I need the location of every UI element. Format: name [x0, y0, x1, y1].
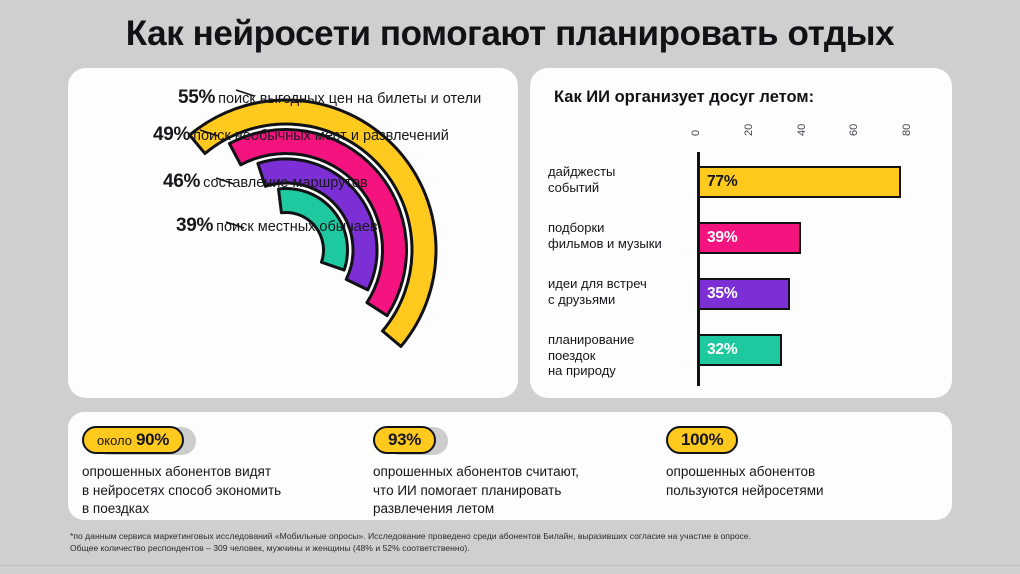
bottom-divider	[0, 565, 1020, 566]
card-travel-uses: 55%поиск выгодных цен на билеты и отели …	[68, 68, 518, 398]
arc-category-1: поиск необычных мест и развлечений	[193, 128, 449, 144]
stat-text-0: опрошенных абонентов видят в нейросетях …	[82, 463, 281, 519]
arc-value-0: 55%	[178, 87, 215, 108]
arc-category-0: поиск выгодных цен на билеты и отели	[218, 91, 481, 107]
bar-1[interactable]: 39%	[698, 222, 801, 254]
stat-item-2: 100%опрошенных абонентов пользуются нейр…	[666, 426, 824, 500]
stat-pill-1: 93%	[373, 426, 436, 454]
arc-value-2: 46%	[163, 171, 200, 192]
bar-category-3: планирование поездок на природу	[548, 332, 686, 379]
infographic-root: Как нейросети помогают планировать отдых…	[0, 0, 1020, 574]
arc-label-2: 46%составление маршрутов	[163, 172, 368, 191]
x-tick-80: 80	[901, 124, 913, 136]
page-title: Как нейросети помогают планировать отдых	[0, 14, 1020, 54]
stat-text-1: опрошенных абонентов считают, что ИИ пом…	[373, 463, 579, 519]
stat-pill-0: около90%	[82, 426, 184, 454]
stat-pill-wrap-2: 100%	[666, 426, 738, 456]
bar-chart: 020406080дайджесты событий77%подборки фи…	[530, 68, 952, 398]
x-tick-40: 40	[796, 124, 808, 136]
arc-category-3: поиск местных обычаев	[216, 219, 377, 235]
stat-item-1: 93%опрошенных абонентов считают, что ИИ …	[373, 426, 579, 519]
x-tick-20: 20	[743, 124, 755, 136]
stat-item-0: около90%опрошенных абонентов видят в ней…	[82, 426, 281, 519]
stat-value-0: 90%	[136, 430, 169, 450]
stat-text-2: опрошенных абонентов пользуются нейросет…	[666, 463, 824, 500]
footnote: *по данным сервиса маркетинговых исследо…	[70, 531, 950, 554]
arc-value-3: 39%	[176, 215, 213, 236]
stat-pill-wrap-0: около90%	[82, 426, 184, 456]
bar-value-1: 39%	[707, 229, 737, 247]
arc-label-3: 39%поиск местных обычаев	[176, 216, 378, 235]
arc-value-1: 49%	[153, 124, 190, 145]
stat-pill-2: 100%	[666, 426, 738, 454]
bar-3[interactable]: 32%	[698, 334, 782, 366]
bar-category-1: подборки фильмов и музыки	[548, 220, 686, 251]
stat-prefix-0: около	[97, 433, 132, 448]
bar-2[interactable]: 35%	[698, 278, 790, 310]
bar-value-2: 35%	[707, 285, 737, 303]
arc-label-1: 49%поиск необычных мест и развлечений	[153, 125, 449, 144]
stat-pill-wrap-1: 93%	[373, 426, 436, 456]
x-tick-0: 0	[690, 130, 702, 136]
bar-0[interactable]: 77%	[698, 166, 901, 198]
bar-value-3: 32%	[707, 341, 737, 359]
card-ai-leisure: Как ИИ организует досуг летом: 020406080…	[530, 68, 952, 398]
x-tick-60: 60	[848, 124, 860, 136]
arc-label-0: 55%поиск выгодных цен на билеты и отели	[178, 88, 481, 107]
arc-category-2: составление маршрутов	[203, 175, 368, 191]
bar-category-0: дайджесты событий	[548, 164, 686, 195]
stat-value-1: 93%	[388, 430, 421, 450]
card-summary-stats: около90%опрошенных абонентов видят в ней…	[68, 412, 952, 520]
bar-category-2: идеи для встреч с друзьями	[548, 276, 686, 307]
stat-value-2: 100%	[681, 430, 723, 450]
bar-value-0: 77%	[707, 173, 737, 191]
